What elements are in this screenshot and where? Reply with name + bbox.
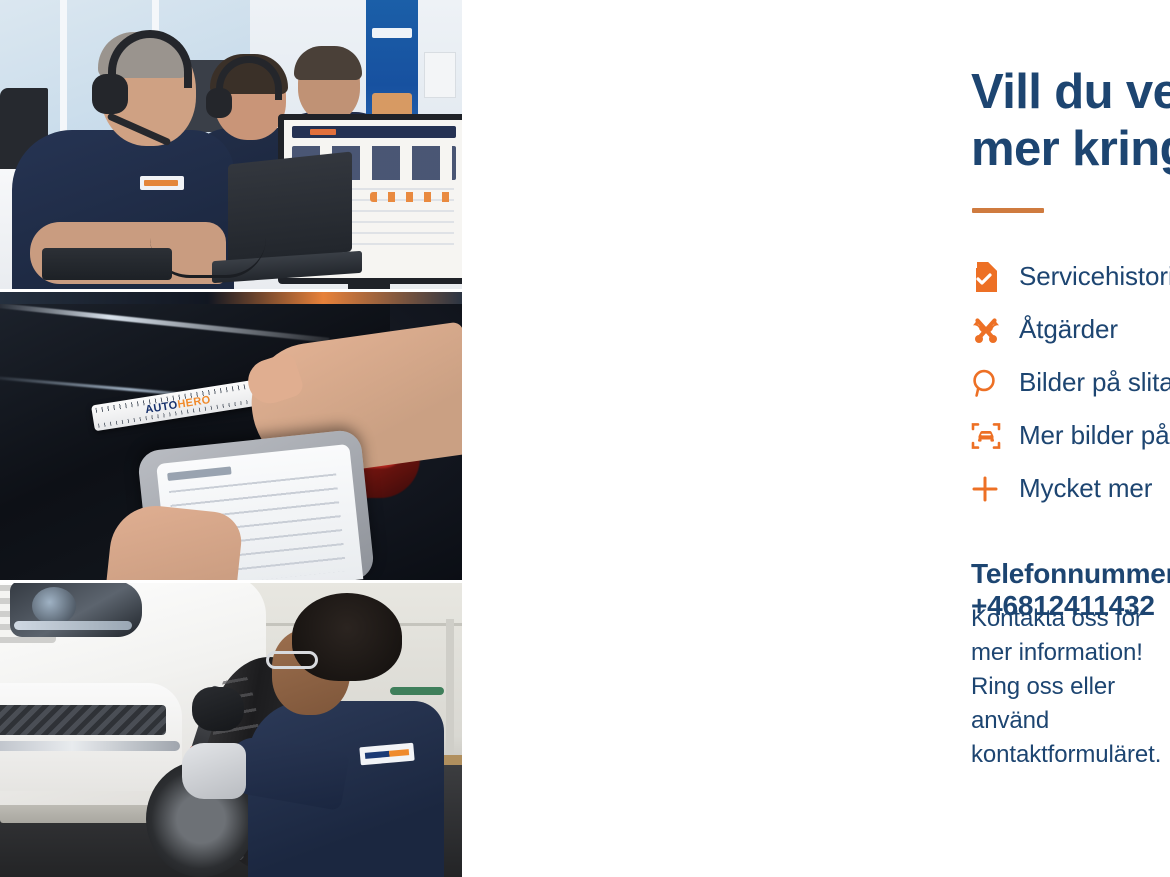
photo-paint-inspection: AUTOHERO: [0, 292, 462, 580]
magnifier-icon: [971, 368, 1019, 398]
feature-label: Servicehistoriken: [1019, 261, 1170, 292]
feature-item-bilder-pa-slitage: Bilder på slitage: [971, 356, 1170, 409]
contact-text: Kontakta oss för mer information! Ring o…: [971, 602, 1170, 772]
feature-item-servicehistoriken: Servicehistoriken: [971, 250, 1170, 303]
feature-label: Mycket mer: [1019, 473, 1152, 504]
feature-item-mer-bilder-pa-bilen: Mer bilder på bilen: [971, 409, 1170, 462]
plus-icon: [971, 475, 1019, 503]
feature-item-atgarder: Åtgärder: [971, 303, 1170, 356]
promo-page: AUTOHERO: [0, 0, 1170, 877]
photo-column: AUTOHERO: [0, 0, 462, 877]
feature-item-mycket-mer: Mycket mer: [971, 462, 1170, 515]
document-check-icon: [971, 262, 1019, 292]
photo-call-center: [0, 0, 462, 289]
title-divider: [972, 208, 1044, 213]
page-title: Vill du veta mer kring:: [971, 64, 1170, 178]
content-panel: Vill du veta mer kring: Servicehistorike…: [462, 0, 1170, 877]
contact-line-1: Kontakta oss för mer information!: [971, 602, 1170, 670]
headline-line-1: Vill du veta: [971, 64, 1170, 121]
feature-list: Servicehistoriken Åtgärder: [971, 250, 1170, 515]
feature-label: Åtgärder: [1019, 314, 1118, 345]
car-scan-icon: [971, 421, 1019, 451]
feature-label: Bilder på slitage: [1019, 367, 1170, 398]
photo-tyre-inspection: [0, 583, 462, 877]
wrench-screwdriver-icon: [971, 315, 1019, 345]
contact-line-2: Ring oss eller använd kontaktformuläret.: [971, 670, 1170, 772]
feature-label: Mer bilder på bilen: [1019, 420, 1170, 451]
headline-line-2: mer kring:: [971, 121, 1170, 178]
